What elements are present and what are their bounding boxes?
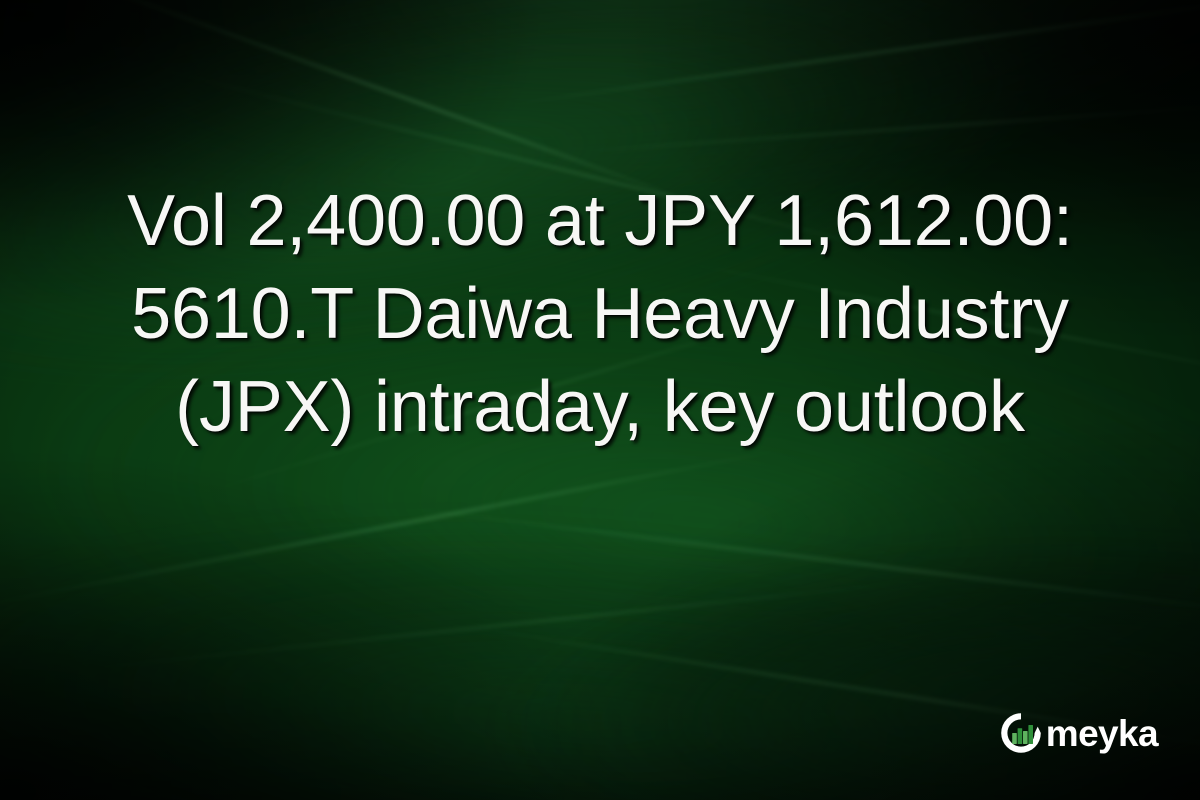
headline-line-3: (JPX) intraday, key outlook [55, 361, 1145, 454]
social-card-canvas: Vol 2,400.00 at JPY 1,612.00: 5610.T Dai… [0, 0, 1200, 800]
page-title: Vol 2,400.00 at JPY 1,612.00: 5610.T Dai… [55, 175, 1145, 454]
meyka-logo: meyka [998, 710, 1158, 756]
headline-line-1: Vol 2,400.00 at JPY 1,612.00: [55, 175, 1145, 268]
headline-line-2: 5610.T Daiwa Heavy Industry [55, 268, 1145, 361]
headline-block: Vol 2,400.00 at JPY 1,612.00: 5610.T Dai… [0, 175, 1200, 454]
meyka-bar-chart-ring-icon [998, 710, 1044, 756]
meyka-wordmark: meyka [1046, 715, 1158, 752]
